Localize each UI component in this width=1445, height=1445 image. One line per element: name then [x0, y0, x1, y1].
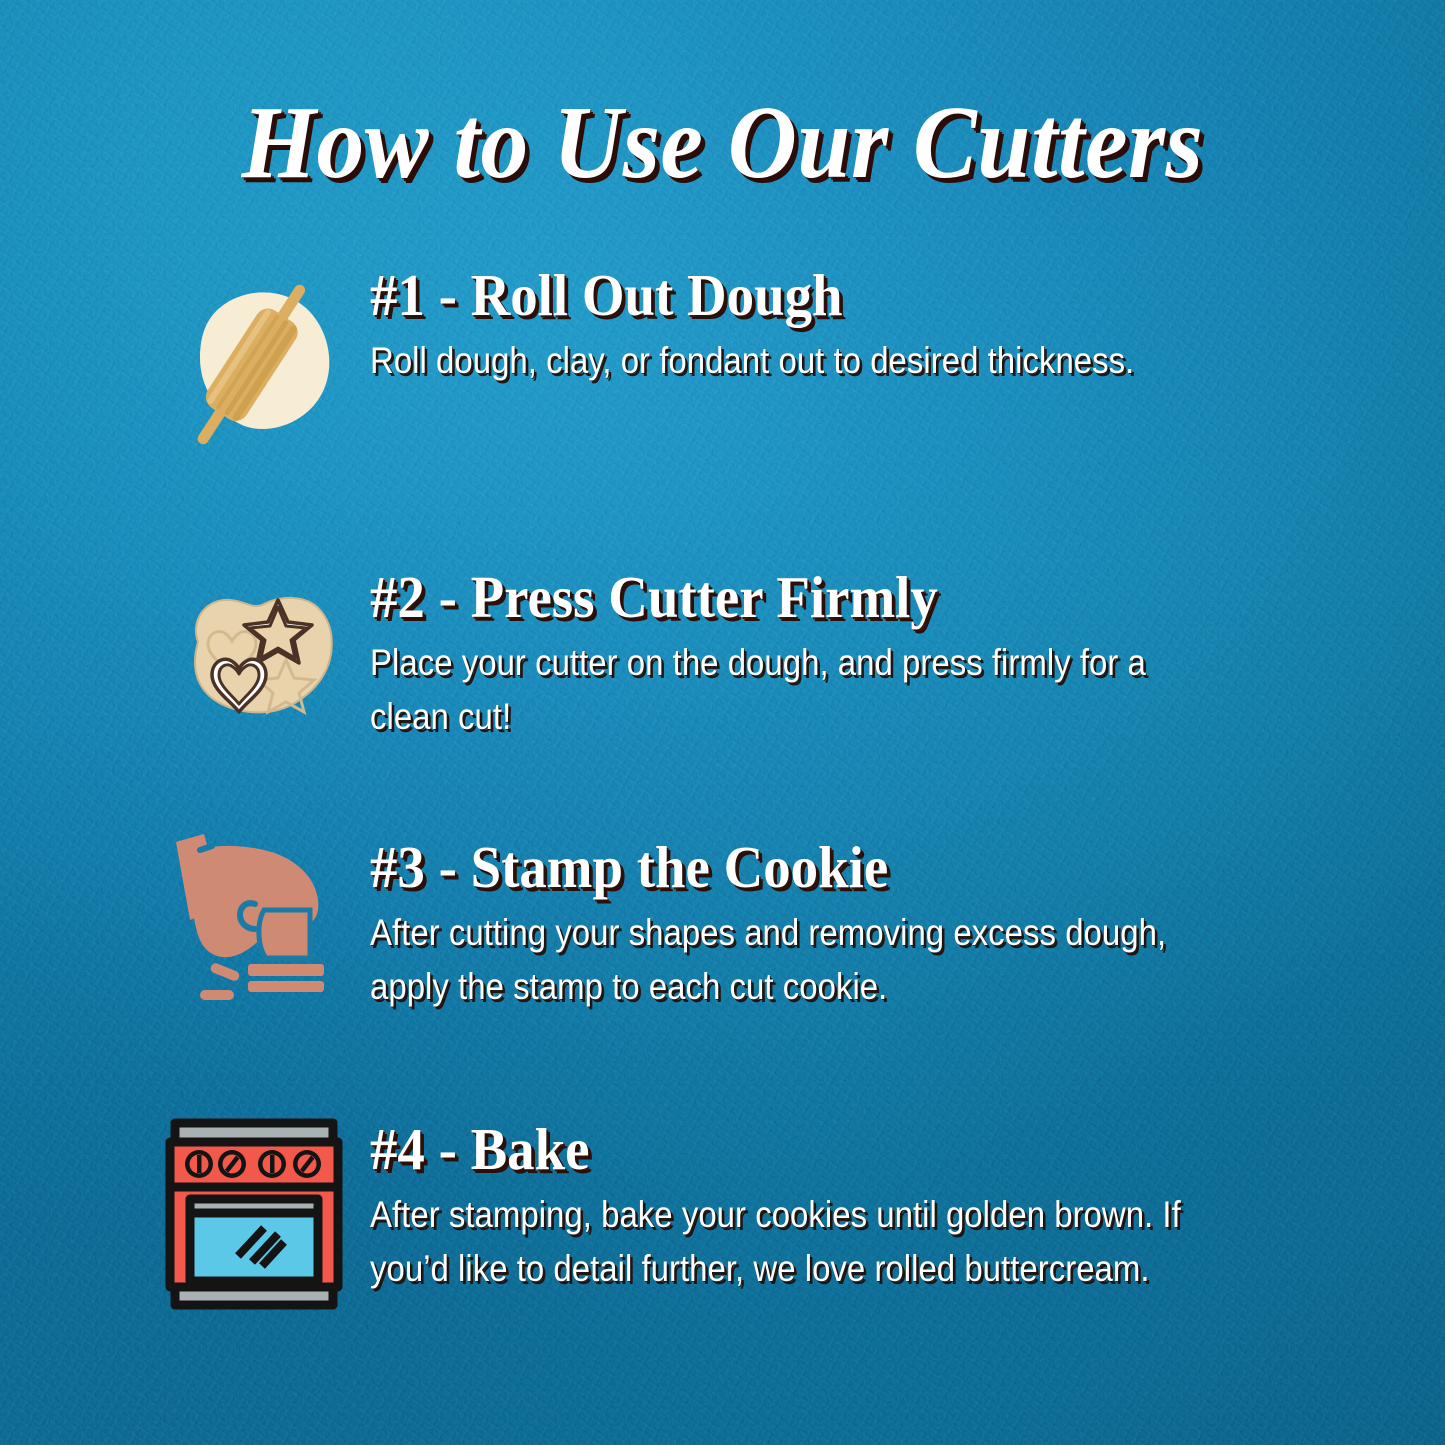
infographic-poster: How to Use Our Cutters — [0, 0, 1445, 1445]
step-3-body: After cutting your shapes and removing e… — [370, 905, 1195, 1014]
step-3-heading: #3 - Stamp the Cookie — [370, 838, 1142, 897]
hand-stamping-icon — [160, 828, 348, 1008]
page-title: How to Use Our Cutters — [58, 88, 1387, 197]
step-2-body: Place your cutter on the dough, and pres… — [370, 635, 1195, 744]
steps-list: #1 - Roll Out Dough Roll dough, clay, or… — [0, 248, 1445, 1400]
step-item-3: #3 - Stamp the Cookie After cutting your… — [0, 830, 1445, 1120]
step-2-heading: #2 - Press Cutter Firmly — [370, 568, 1142, 627]
step-1-body: Roll dough, clay, or fondant out to desi… — [370, 333, 1195, 387]
rolling-pin-dough-icon — [160, 270, 348, 460]
step-1-text: #1 - Roll Out Dough Roll dough, clay, or… — [348, 266, 1200, 387]
step-item-1: #1 - Roll Out Dough Roll dough, clay, or… — [0, 248, 1445, 548]
step-4-text: #4 - Bake After stamping, bake your cook… — [348, 1120, 1200, 1296]
step-4-heading: #4 - Bake — [370, 1120, 1142, 1179]
step-item-4: #4 - Bake After stamping, bake your cook… — [0, 1120, 1445, 1400]
dough-with-cutters-icon — [160, 570, 348, 735]
step-2-text: #2 - Press Cutter Firmly Place your cutt… — [348, 568, 1200, 744]
step-3-text: #3 - Stamp the Cookie After cutting your… — [348, 838, 1200, 1014]
oven-icon — [160, 1114, 348, 1314]
step-4-body: After stamping, bake your cookies until … — [370, 1187, 1195, 1296]
step-item-2: #2 - Press Cutter Firmly Place your cutt… — [0, 548, 1445, 830]
step-1-heading: #1 - Roll Out Dough — [370, 266, 1142, 325]
